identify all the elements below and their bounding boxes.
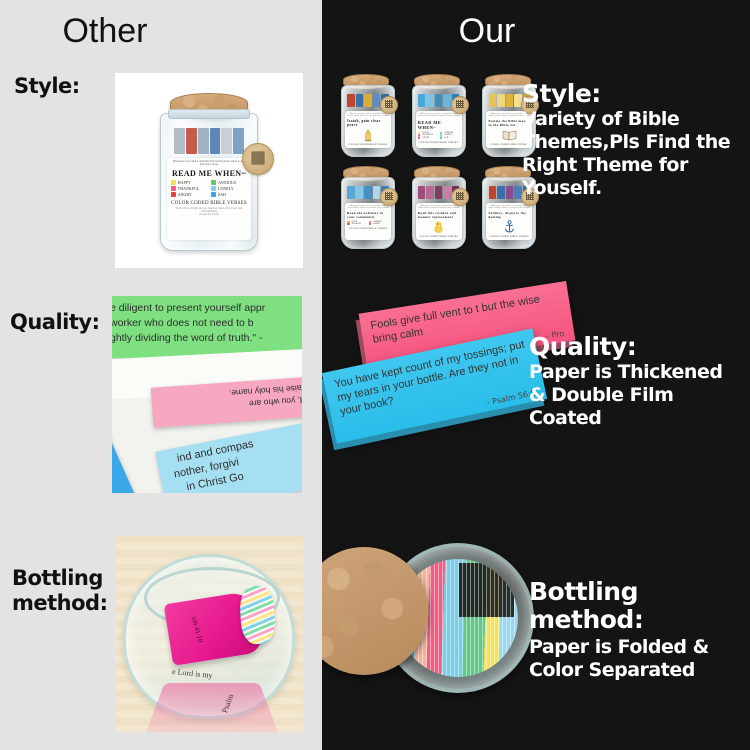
lantern-icon [347,128,389,143]
mood-swatch-lonely [211,186,216,191]
pink-paper-roll: tah 41:10 [164,590,265,666]
strip-line: e diligent to present yourself appr [112,302,302,314]
mood-swatch-angry [171,192,176,197]
jar-label-title: Read the ordinary in your community [347,211,389,219]
left-quality-label: Quality: [10,310,100,335]
jar-label-footer: COLOR CODED BIBLE VERSES [349,227,388,230]
mood-label: ANXIOUS [218,180,236,185]
mood-item: ANXIOUS [211,180,247,185]
our-bottling-heading-line1: Bottling [529,578,749,606]
other-bottling-photo: tah 41:10 e Lord is my Psalm [115,536,303,732]
our-bottling-body-line1: Paper is Folded & [529,636,749,659]
mood-swatch-anxious [211,180,216,185]
other-style-photo: Whenever you need a reminder from God's … [115,73,303,268]
our-quality-body: Paper is Thickened & Double Film Coated [529,361,744,431]
our-bottling-body-line2: Color Separated [529,659,749,682]
our-style-heading: Style: [522,80,744,108]
qr-tag-icon [451,96,469,114]
jar-cell: Whenever you need a reminder from God's … [332,72,401,162]
mood-item: ANGRY [171,192,207,197]
our-bottling-heading-line2: method: [529,606,749,634]
mood-item: LONELY [369,223,389,225]
mood-legend: HAPPY ANXIOUS THANKFUL LONELY ANGRY SAD [418,132,460,140]
mood-label: SAD [218,192,226,197]
comparison-infographic: Other Style: Whenever you need a reminde… [0,0,750,750]
left-bottling-label-line1: Bottling [12,566,107,591]
chick-icon [418,220,460,235]
our-bottling-text: Bottling method: Paper is Folded & Color… [529,578,749,682]
jar-label: Whenever you need a reminder from God's … [486,203,532,240]
mood-label: THANKFUL [178,186,200,191]
jar-label-footer: COLOR CODED BIBLE VERSES [419,235,458,238]
qr-tag-icon [380,188,398,206]
jar-label-title: READ ME WHEN~ [418,120,460,130]
jar-neck [168,109,251,119]
jar-illustration: Whenever you need a reminder from God's … [154,93,264,253]
jar-label-title: Isaiah, gain clear peace [347,119,389,127]
jar-label-title: Read this cushion and manner replacement [418,211,460,219]
our-style-photo: Whenever you need a reminder from God's … [332,72,542,254]
left-column-title: Other [0,12,210,51]
paper-strip-green: e diligent to present yourself appr work… [112,296,302,358]
strip-line: worker who does not need to b [112,317,302,329]
mood-label: LONELY [218,186,234,191]
mood-label: ANGRY [178,192,192,197]
roll-text: tah 41:10 [190,616,205,643]
paper-strips [174,128,243,154]
jar-label: Whenever you need a reminder from God's … [416,203,462,240]
mood-swatch-happy [171,180,176,185]
roll-text: e Lord is my [172,667,213,680]
qr-tag-icon [242,143,274,175]
our-quality-text: Quality: Paper is Thickened & Double Fil… [529,333,744,430]
mood-legend: HAPPY ANXIOUS THANKFUL [171,180,248,197]
mood-label: HAPPY [178,180,191,185]
qr-code-icon [385,192,393,200]
mood-item: LONELY [211,186,247,191]
jar-label-topline: Whenever you need a reminder from God's … [488,205,530,210]
left-bottling-label: Bottling method: [12,566,107,616]
jar-label-footer: COLOR CODED BIBLE VERSES [171,201,247,206]
jar-label: Whenever you need a reminder from God's … [167,158,252,240]
other-column: Other Style: Whenever you need a reminde… [0,0,322,750]
qr-code-icon [456,192,464,200]
qr-code-icon [456,100,464,108]
qr-tag-icon [451,188,469,206]
our-column: Our Whenever you need a reminder from Go… [322,0,750,750]
mood-legend: HAPPY ANXIOUS THANKFUL LONELY [347,221,389,226]
left-bottling-label-line2: method: [12,591,107,616]
mood-swatch-thankful [171,186,176,191]
glass-bowl: tah 41:10 e Lord is my Psalm [123,554,295,719]
jar-shadow [459,563,514,617]
jar-label: Whenever you need a reminder from God's … [345,203,391,240]
anchor-icon [488,220,530,235]
jar-label-footer: COLOR CODED BIBLE VERSES [419,141,458,144]
mood-item: THANKFUL [347,223,367,225]
jar-label: Whenever you need a reminder from God's … [345,111,391,148]
jar-label-topline: Whenever you need a reminder from God's … [171,161,248,166]
jar-label-topline: Whenever you need a reminder from God's … [347,205,389,210]
jar-label-topline: Whenever you need a reminder from God's … [418,205,460,210]
our-style-text: Style: Variety of Bible Themes,Pls Find … [522,80,744,200]
qr-code-icon [385,100,393,108]
jar-label-title: Soldiers, disperse the healing [488,211,530,219]
mood-item: HAPPY [171,180,207,185]
jar-label: Whenever you need a reminder from God's … [416,111,462,148]
strip-line: ghtly dividing the word of truth." - [112,332,302,344]
jar-cell: Whenever you need a reminder from God's … [403,72,472,162]
jar-label-footer: COLOR CODED BIBLE VERSES [349,143,388,146]
paper-stack-edge [239,585,276,645]
jar-label-reference: Proverbs 3:5-6 [200,214,219,217]
mood-item: SAD [211,192,247,197]
jar-label-footer: COLOR CODED BIBLE VERSES [490,235,529,238]
jar-label-topline: Whenever you need a reminder from God's … [418,113,460,118]
jar-label-title: READ ME WHEN~ [172,169,246,178]
qr-code-icon [252,151,265,164]
jar-cell: Whenever you need a reminder from God's … [403,164,472,254]
other-quality-photo: e diligent to present yourself appr work… [112,296,302,493]
glass-jar: Whenever you need a reminder from God's … [160,113,258,251]
jar-cell: Whenever you need a reminder from God's … [332,164,401,254]
our-bottling-photo [322,525,552,710]
mood-item: SAD [440,137,460,140]
our-style-body: Variety of Bible Themes,Pls Find the Rig… [522,108,744,201]
qr-tag-icon [380,96,398,114]
left-style-label: Style: [14,74,80,99]
jar-label-topline: Whenever you need a reminder from God's … [347,113,389,118]
right-column-title: Our [322,12,652,51]
paper-strip-lightblue: ind and compas nother, forgivi in Christ… [155,417,302,493]
our-quality-heading: Quality: [529,333,744,361]
mood-item: THANKFUL [171,186,207,191]
bowl-reflection [144,683,281,732]
mood-item: ANGRY [418,137,438,140]
mood-swatch-sad [211,192,216,197]
